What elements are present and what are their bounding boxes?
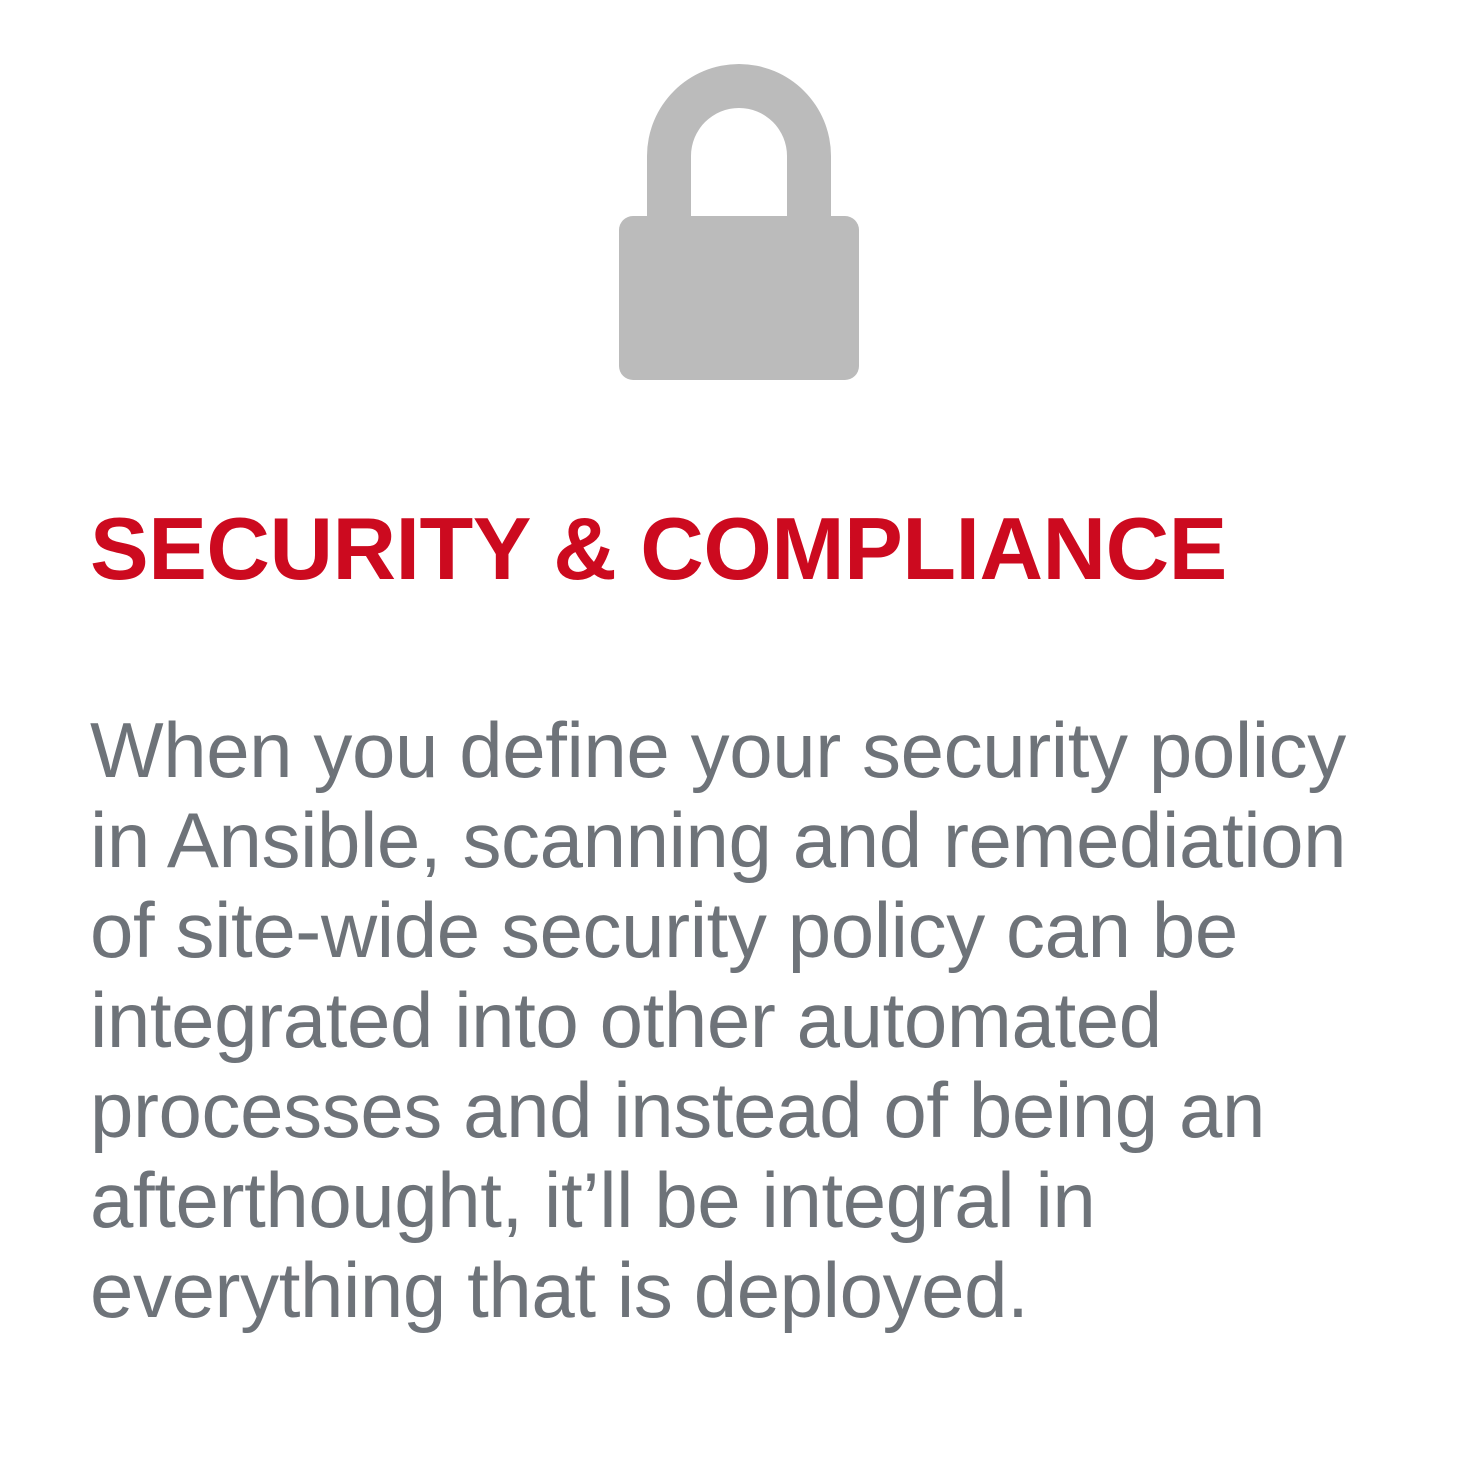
security-compliance-card: SECURITY & COMPLIANCE When you define yo…	[0, 0, 1477, 1471]
body-line: When you define your security policy	[90, 705, 1430, 795]
page-title: SECURITY & COMPLIANCE	[90, 505, 1410, 593]
body-line: afterthought, it’ll be integral in	[90, 1155, 1430, 1245]
body-line: everything that is deployed.	[90, 1245, 1430, 1335]
body-line: integrated into other automated	[90, 975, 1430, 1065]
lock-icon	[619, 60, 859, 380]
body-paragraph: When you define your security policy in …	[90, 705, 1430, 1335]
body-line: processes and instead of being an	[90, 1065, 1430, 1155]
body-line: in Ansible, scanning and remediation	[90, 795, 1430, 885]
lock-icon-container	[0, 60, 1477, 390]
body-line: of site-wide security policy can be	[90, 885, 1430, 975]
